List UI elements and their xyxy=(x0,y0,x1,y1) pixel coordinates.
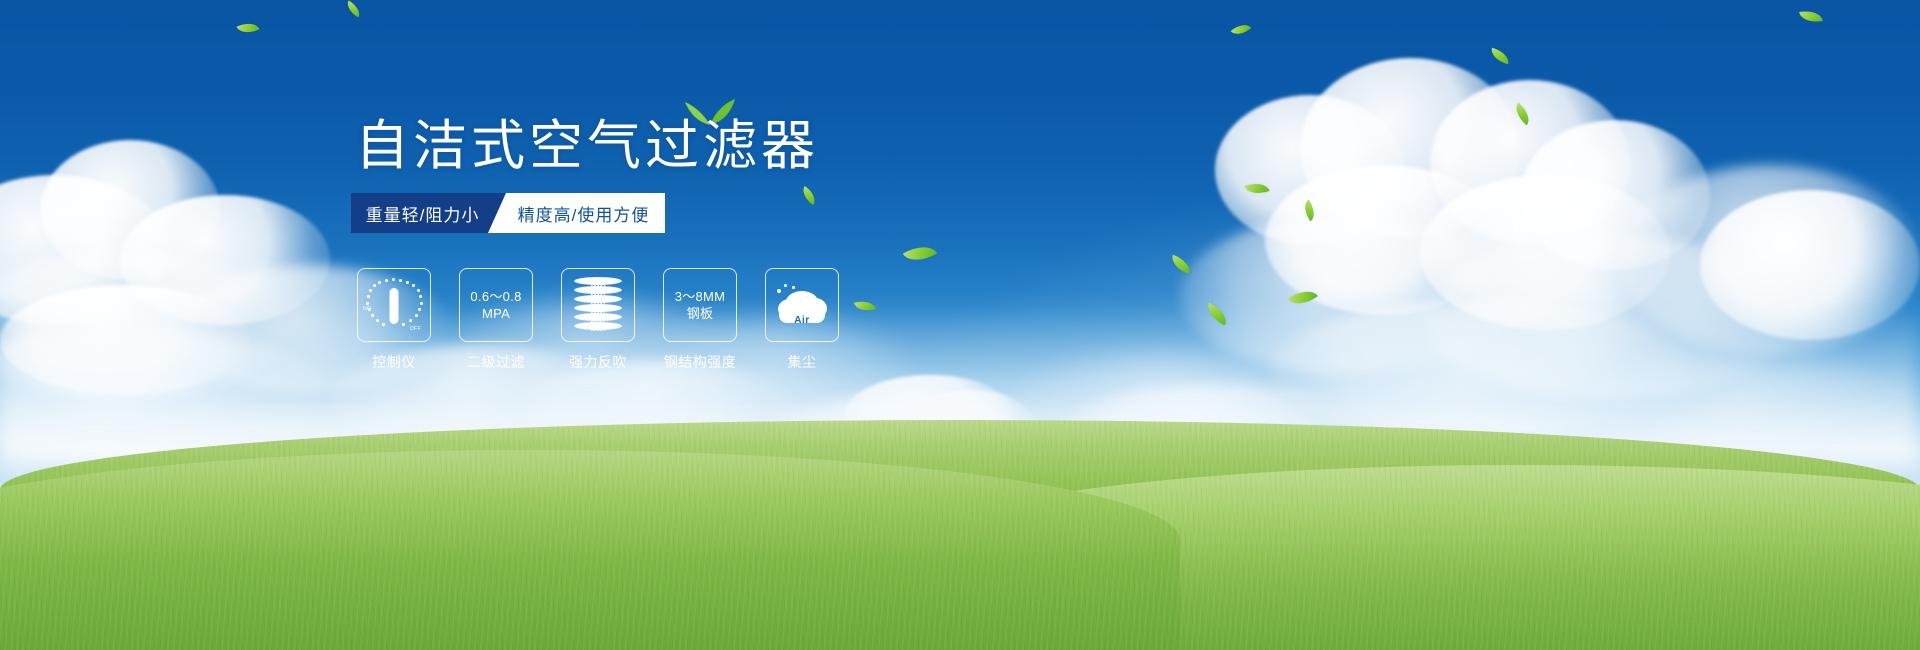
air-cloud-icon: Air xyxy=(775,283,829,327)
feature-caption-two-stage-filter: 二级过滤 xyxy=(467,352,525,372)
feature-icon-box: 0.6～0.8 MPA xyxy=(459,268,533,342)
feature-badge-group: 重量轻/阻力小 精度高/使用方便 xyxy=(351,193,665,233)
feature-caption-backblow: 强力反吹 xyxy=(569,352,627,372)
feature-item-two-stage-filter: 0.6～0.8 MPA 二级过滤 xyxy=(459,268,533,372)
dial-label-off: OFF xyxy=(410,326,421,332)
pressure-line-1: 0.6～0.8 xyxy=(470,288,521,305)
filter-stack-icon xyxy=(574,277,622,333)
air-label: Air xyxy=(775,315,829,326)
steel-line-1: 3～8MM xyxy=(675,288,726,305)
feature-icon-box xyxy=(561,268,635,342)
feature-caption-steel-strength: 钢结构强度 xyxy=(664,352,737,372)
hero-banner: 自洁式空气过滤器 重量轻/阻力小 精度高/使用方便 xyxy=(0,0,1920,650)
power-dial-icon: NO OFF xyxy=(363,276,425,334)
dial-label-no: NO xyxy=(363,306,371,312)
feature-icon-row: NO OFF 控制仪 0.6～0.8 MPA 二级过滤 xyxy=(357,268,839,372)
feature-caption-dust-collection: 集尘 xyxy=(788,352,817,372)
page-title: 自洁式空气过滤器 xyxy=(355,114,819,178)
badge-weight-resistance: 重量轻/阻力小 xyxy=(351,193,506,233)
feature-item-steel-strength: 3～8MM 钢板 钢结构强度 xyxy=(663,268,737,372)
feature-icon-box: 3～8MM 钢板 xyxy=(663,268,737,342)
feature-icon-box: Air xyxy=(765,268,839,342)
steel-plate-text-icon: 3～8MM 钢板 xyxy=(675,288,726,322)
feature-icon-box: NO OFF xyxy=(357,268,431,342)
feature-item-dust-collection: Air 集尘 xyxy=(765,268,839,372)
feature-caption-controller: 控制仪 xyxy=(372,352,416,372)
pressure-text-icon: 0.6～0.8 MPA xyxy=(470,288,521,322)
feature-item-backblow: 强力反吹 xyxy=(561,268,635,372)
feature-item-controller: NO OFF 控制仪 xyxy=(357,268,431,372)
pressure-line-2: MPA xyxy=(470,305,521,322)
badge-precision-convenience: 精度高/使用方便 xyxy=(488,193,665,233)
steel-line-2: 钢板 xyxy=(675,305,726,322)
